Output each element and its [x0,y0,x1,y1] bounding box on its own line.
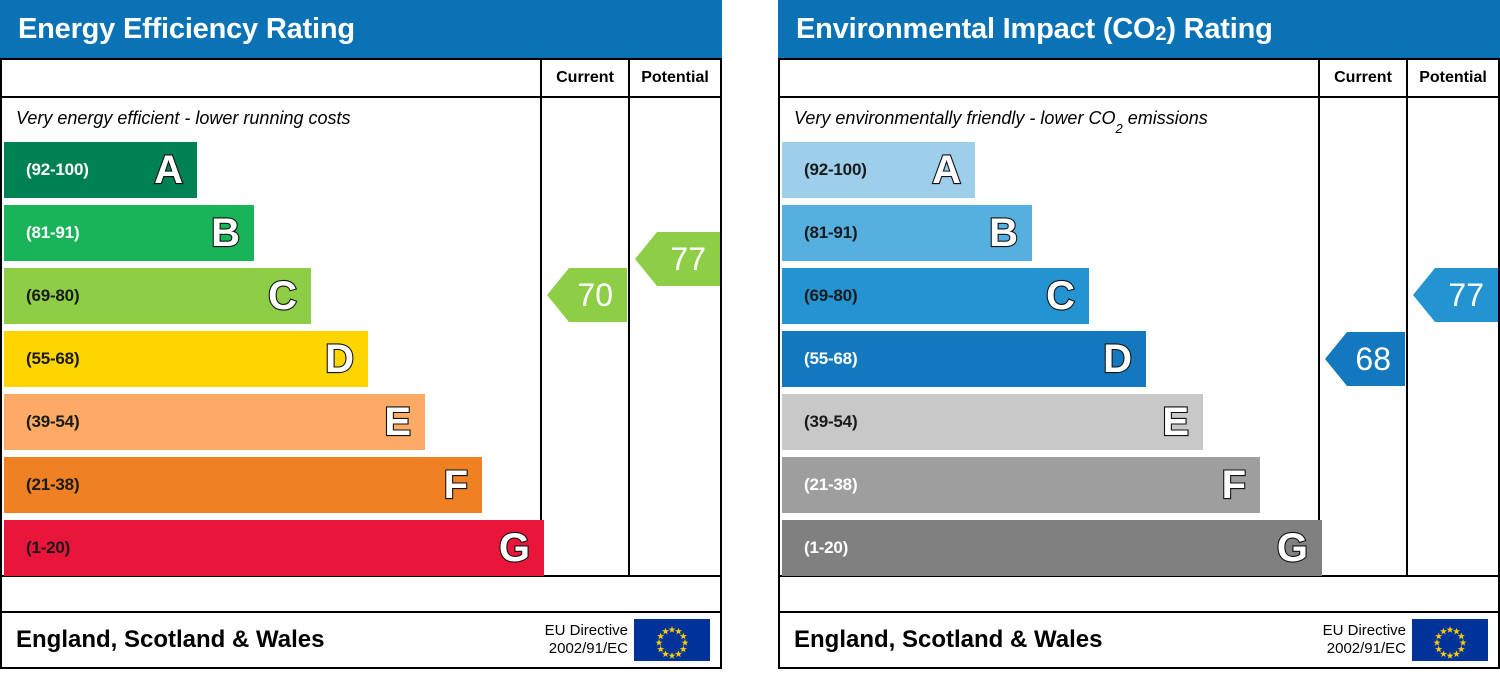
environmental-impact-certificate: Environmental Impact (CO2) Rating Curren… [778,0,1500,675]
band-row-c: (69-80) C [4,268,311,324]
band-letter-c: C [268,276,297,316]
energy-current-rating-arrow: 70 [547,268,627,322]
eu-flag-icon-right [1412,619,1488,661]
environmental-caption-top-suffix: emissions [1123,108,1208,128]
energy-column-divider-potential [628,98,630,575]
energy-column-header-row: Current Potential [2,60,720,98]
eu-flag-icon [634,619,710,661]
band-range-f: (21-38) [26,475,79,495]
environmental-header-blank [780,60,1318,96]
energy-directive-line1: EU Directive [545,622,628,640]
eir-band-range-e: (39-54) [804,412,857,432]
band-letter-e: E [384,402,411,442]
energy-efficiency-title: Energy Efficiency Rating [0,0,722,58]
band-row-g: (1-20) G [4,520,544,576]
eir-band-range-b: (81-91) [804,223,857,243]
environmental-potential-rating-value: 77 [1448,277,1484,314]
energy-efficiency-title-text: Energy Efficiency Rating [18,13,355,46]
environmental-caption-top-prefix: Very environmentally friendly - lower CO [794,108,1115,128]
eir-band-range-c: (69-80) [804,286,857,306]
environmental-footer-region: England, Scotland & Wales [780,626,1102,654]
environmental-band-bars: (92-100) A (81-91) B (69-80) C (55-68) D [782,142,1322,583]
environmental-footer: England, Scotland & Wales EU Directive 2… [778,613,1500,669]
environmental-header-current-label: Current [1334,69,1392,87]
environmental-header-potential-label: Potential [1419,69,1487,87]
energy-directive-line2: 2002/91/EC [545,640,628,658]
energy-potential-rating-value: 77 [670,241,706,278]
band-range-a: (92-100) [26,160,89,180]
environmental-impact-title: Environmental Impact (CO2) Rating [778,0,1500,58]
eir-band-range-a: (92-100) [804,160,867,180]
band-letter-a: A [154,150,183,190]
energy-header-potential: Potential [628,60,720,96]
environmental-header-current: Current [1318,60,1406,96]
band-row-b: (81-91) B [4,205,254,261]
environmental-column-header-row: Current Potential [780,60,1498,98]
environmental-current-rating-arrow: 68 [1325,332,1405,386]
eir-band-letter-a: A [932,150,961,190]
energy-footer-region: England, Scotland & Wales [2,626,324,654]
band-range-b: (81-91) [26,223,79,243]
band-row-e: (39-54) E [4,394,425,450]
energy-header-current-label: Current [556,69,614,87]
epc-eir-certificate-page: Energy Efficiency Rating Current Potenti… [0,0,1500,675]
energy-current-rating-value: 70 [577,277,613,314]
band-row-f: (21-38) F [4,457,482,513]
band-row-d: (55-68) D [4,331,368,387]
environmental-body: Current Potential Very environmentally f… [778,58,1500,613]
band-letter-g: G [499,528,530,568]
band-letter-f: F [444,465,468,505]
eir-band-row-c: (69-80) C [782,268,1089,324]
energy-band-bars: (92-100) A (81-91) B (69-80) C (55-68) D [4,142,544,583]
energy-header-current: Current [540,60,628,96]
environmental-grid-area: Very environmentally friendly - lower CO… [780,98,1498,577]
eir-band-row-e: (39-54) E [782,394,1203,450]
eir-band-letter-d: D [1103,339,1132,379]
environmental-header-potential: Potential [1406,60,1498,96]
energy-potential-rating-arrow: 77 [635,232,720,286]
eir-band-row-d: (55-68) D [782,331,1146,387]
energy-footer: England, Scotland & Wales EU Directive 2… [0,613,722,669]
energy-caption-top: Very energy efficient - lower running co… [16,108,351,129]
environmental-current-rating-value: 68 [1355,341,1391,378]
eir-band-range-g: (1-20) [804,538,848,558]
environmental-caption-top-subscript: 2 [1115,121,1122,136]
eir-band-letter-f: F [1222,465,1246,505]
eir-band-letter-b: B [989,213,1018,253]
band-letter-d: D [325,339,354,379]
eir-band-row-b: (81-91) B [782,205,1032,261]
environmental-title-subscript: 2 [1155,23,1166,46]
eir-band-row-g: (1-20) G [782,520,1322,576]
band-range-d: (55-68) [26,349,79,369]
environmental-potential-rating-arrow: 77 [1413,268,1498,322]
environmental-column-divider-potential [1406,98,1408,575]
energy-grid-area: Very energy efficient - lower running co… [2,98,720,577]
eir-band-letter-e: E [1162,402,1189,442]
environmental-footer-directive: EU Directive 2002/91/EC [1323,622,1406,658]
band-range-e: (39-54) [26,412,79,432]
eir-band-letter-g: G [1277,528,1308,568]
energy-header-blank [2,60,540,96]
environmental-directive-line1: EU Directive [1323,622,1406,640]
band-range-g: (1-20) [26,538,70,558]
environmental-caption-top: Very environmentally friendly - lower CO… [794,108,1208,132]
eir-band-row-a: (92-100) A [782,142,975,198]
environmental-title-suffix: ) Rating [1166,13,1272,46]
energy-efficiency-certificate: Energy Efficiency Rating Current Potenti… [0,0,722,675]
eir-band-range-d: (55-68) [804,349,857,369]
energy-efficiency-body: Current Potential Very energy efficient … [0,58,722,613]
band-row-a: (92-100) A [4,142,197,198]
band-letter-b: B [211,213,240,253]
eir-band-row-f: (21-38) F [782,457,1260,513]
band-range-c: (69-80) [26,286,79,306]
environmental-directive-line2: 2002/91/EC [1323,640,1406,658]
environmental-title-prefix: Environmental Impact (CO [796,13,1155,46]
energy-header-potential-label: Potential [641,69,709,87]
eir-band-range-f: (21-38) [804,475,857,495]
eir-band-letter-c: C [1046,276,1075,316]
energy-footer-directive: EU Directive 2002/91/EC [545,622,628,658]
